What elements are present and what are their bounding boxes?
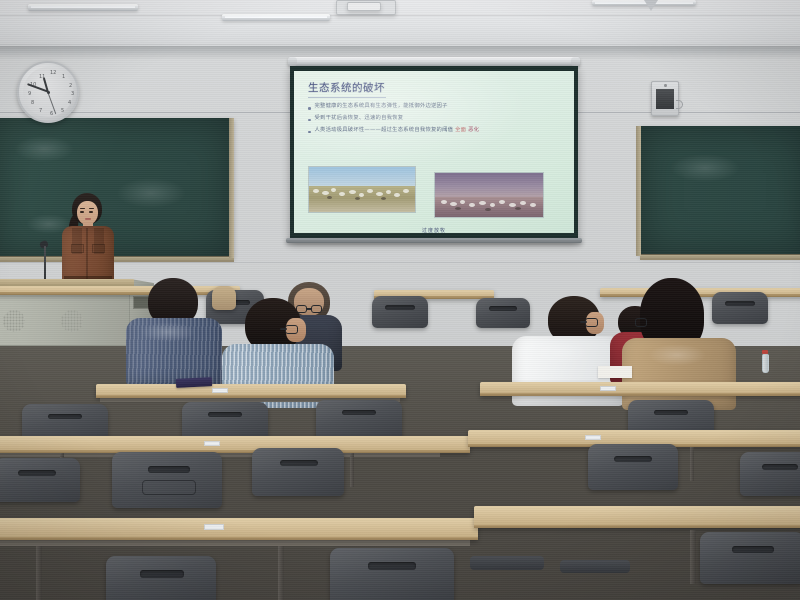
clock-numeral: 12 [50,71,56,76]
grazing-photo-right [434,172,544,218]
water-bottle[interactable] [762,354,769,373]
desk-row-back [0,286,240,295]
clock-center-pin [47,91,50,94]
ceiling-sensor-icon [644,0,658,11]
bullet-text: 人类活动极具破坏性———超过生态系统自我恢复的阈值 [315,127,454,133]
slide-bullet-list: 完整健康的生态系统具有生态弹性，能抵御外边逆因子 受到干扰后会恢复、迅速的自我恢… [308,104,564,133]
projection-screen: 生态系统的破坏 完整健康的生态系统具有生态弹性，能抵御外边逆因子 受到干扰后会恢… [290,66,578,241]
desk-row-front [474,506,800,528]
highlight-term-2: 恶化 [468,127,479,133]
bullet-marker-icon [308,119,311,122]
highlight-term-1: 全面 [455,127,466,133]
clock-face: 12 1 2 3 4 5 6 7 8 9 10 11 [23,67,73,117]
grazing-photo-left [308,166,416,213]
desk-label [212,388,228,393]
clock-numeral: 4 [68,101,71,106]
clock-numeral: 9 [28,92,31,97]
papers[interactable] [598,366,632,378]
clock-numeral: 5 [61,109,64,114]
chair-seat[interactable] [470,556,544,570]
slide-content: 生态系统的破坏 完整健康的生态系统具有生态弹性，能抵御外边逆因子 受到干扰后会恢… [294,71,574,233]
bullet-marker-icon [308,131,311,134]
slide-photo-group [308,166,560,222]
desk-label [204,524,224,530]
clock-numeral: 7 [39,109,42,114]
screen-roller-housing [288,57,580,66]
desk-row-front [0,518,478,540]
title-underline [308,97,386,98]
desk-row [96,384,406,398]
blackboard-left [0,118,234,258]
bullet-item: 人类活动极具破坏性———超过生态系统自我恢复的阈值 全面 恶化 [308,128,564,134]
chair[interactable] [712,292,768,324]
chair[interactable] [372,296,428,328]
ceiling-light-left [28,4,138,11]
bullet-text-with-highlight: 人类活动极具破坏性———超过生态系统自我恢复的阈值 全面 恶化 [315,128,480,134]
slide-surface: 生态系统的破坏 完整健康的生态系统具有生态弹性，能抵御外边逆因子 受到干扰后会恢… [294,71,574,233]
slide-photo-caption: 过度放牧 [294,227,574,233]
bullet-text: 受到干扰后会恢复、迅速的自我恢复 [315,116,404,122]
chair-seat[interactable] [560,560,630,573]
clock-numeral: 2 [69,84,72,89]
bullet-item: 受到干扰后会恢复、迅速的自我恢复 [308,116,564,122]
screen-bottom-bar [286,238,582,243]
glasses-icon [585,318,598,327]
bottle-cap [762,350,768,354]
bullet-text: 完整健康的生态系统具有生态弹性，能抵御外边逆因子 [315,104,448,110]
glasses-icon [635,318,647,327]
bullet-item: 完整健康的生态系统具有生态弹性，能抵御外边逆因子 [308,104,564,110]
wall-speaker-icon [651,81,679,116]
lectern-speaker-grille [61,310,83,332]
lectern-speaker-grille [3,310,25,332]
desk-row [480,382,800,396]
chair[interactable] [476,298,530,328]
chair[interactable] [212,286,236,310]
slide-title: 生态系统的破坏 [308,80,564,95]
blackboard-right [640,126,800,256]
lectern [0,287,130,346]
clock-numeral: 8 [31,101,34,106]
notebook[interactable] [176,377,212,388]
desk-row [0,436,470,453]
presenter-mouth [85,218,91,220]
clock-numeral: 3 [71,92,74,97]
glasses-icon [285,325,298,334]
classroom-photo: 生态系统的破坏 完整健康的生态系统具有生态弹性，能抵御外边逆因子 受到干扰后会恢… [0,0,800,600]
clock-numeral: 6 [50,112,53,117]
microphone-stand [44,246,46,282]
wall-clock: 12 1 2 3 4 5 6 7 8 9 10 11 [17,61,79,123]
bullet-marker-icon [308,107,311,110]
ceiling-light-center [222,14,330,21]
clock-numeral: 1 [62,75,65,80]
